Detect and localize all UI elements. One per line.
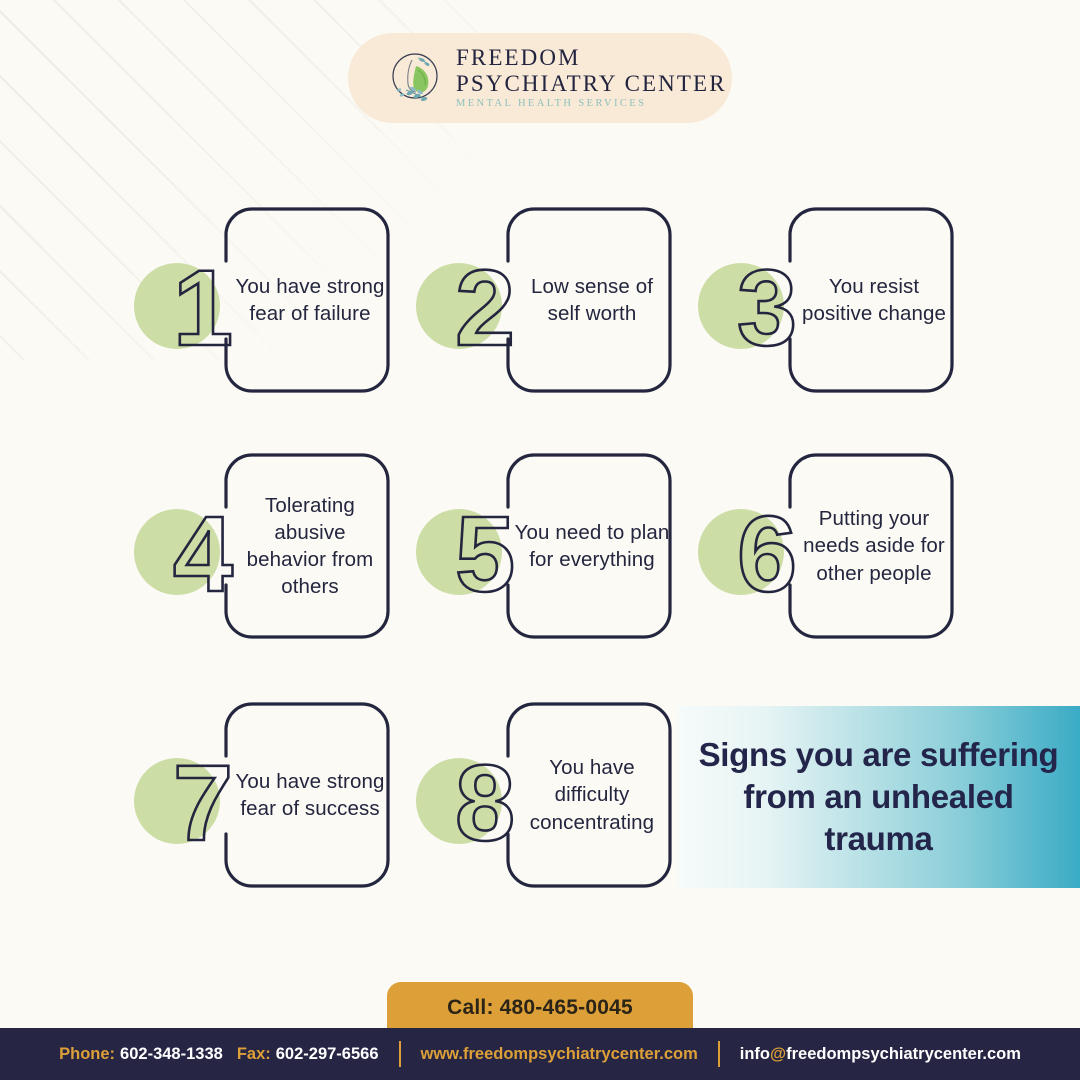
- brand-line-1: FREEDOM: [456, 46, 727, 69]
- card-accent-circle: [416, 509, 502, 595]
- footer-website-link: www.freedompsychiatrycenter.com: [421, 1045, 698, 1064]
- footer-email-user: info: [740, 1045, 770, 1064]
- card-accent-circle: [134, 758, 220, 844]
- sign-card: 2Low sense of self worth: [412, 207, 676, 393]
- card-accent-circle: [134, 509, 220, 595]
- footer-email-at: @: [770, 1045, 786, 1064]
- footer-divider-2: [718, 1041, 720, 1067]
- card-text: You need to plan for everything: [508, 453, 676, 639]
- sign-card: 1You have strong fear of failure: [130, 207, 394, 393]
- brand-line-2: PSYCHIATRY CENTER: [456, 72, 727, 95]
- footer-divider-1: [399, 1041, 401, 1067]
- footer-phone[interactable]: Phone: 602-348-1338: [59, 1045, 223, 1064]
- card-accent-circle: [416, 758, 502, 844]
- sign-card: 3You resist positive change: [694, 207, 958, 393]
- signs-card-grid: 1You have strong fear of failure2Low sen…: [0, 0, 1080, 1080]
- footer-email[interactable]: info @ freedompsychiatrycenter.com: [740, 1045, 1021, 1064]
- card-accent-circle: [134, 263, 220, 349]
- card-text: You have strong fear of success: [226, 702, 394, 888]
- footer-website[interactable]: www.freedompsychiatrycenter.com: [421, 1045, 698, 1064]
- sign-card: 4Tolerating abusive behavior from others: [130, 453, 394, 639]
- footer-phone-label: Phone:: [59, 1045, 115, 1064]
- headline-text: Signs you are suffering from an unhealed…: [677, 734, 1080, 861]
- call-button[interactable]: Call: 480-465-0045: [387, 982, 693, 1034]
- footer-fax: Fax: 602-297-6566: [237, 1045, 379, 1064]
- card-text: You have strong fear of failure: [226, 207, 394, 393]
- sign-card: 8You have difficulty concentrating: [412, 702, 676, 888]
- card-text: Putting your needs aside for other peopl…: [790, 453, 958, 639]
- logo-wordmark: FREEDOM PSYCHIATRY CENTER MENTAL HEALTH …: [456, 46, 727, 110]
- card-text: You resist positive change: [790, 207, 958, 393]
- card-text: Tolerating abusive behavior from others: [226, 453, 394, 639]
- footer-fax-label: Fax:: [237, 1045, 271, 1064]
- card-text: Low sense of self worth: [508, 207, 676, 393]
- brand-tagline: MENTAL HEALTH SERVICES: [456, 99, 727, 110]
- logo-badge: FREEDOM PSYCHIATRY CENTER MENTAL HEALTH …: [348, 33, 732, 123]
- footer-phone-value: 602-348-1338: [120, 1045, 223, 1064]
- footer-email-domain: freedompsychiatrycenter.com: [786, 1045, 1021, 1064]
- footer-fax-value: 602-297-6566: [276, 1045, 379, 1064]
- card-accent-circle: [698, 509, 784, 595]
- card-accent-circle: [416, 263, 502, 349]
- card-text: You have difficulty concentrating: [508, 702, 676, 888]
- card-accent-circle: [698, 263, 784, 349]
- clinic-logo-icon: [382, 46, 446, 110]
- sign-card: 7You have strong fear of success: [130, 702, 394, 888]
- sign-card: 6Putting your needs aside for other peop…: [694, 453, 958, 639]
- footer-contact-bar: Phone: 602-348-1338 Fax: 602-297-6566 ww…: [0, 1028, 1080, 1080]
- sign-card: 5You need to plan for everything: [412, 453, 676, 639]
- headline-banner: Signs you are suffering from an unhealed…: [677, 706, 1080, 888]
